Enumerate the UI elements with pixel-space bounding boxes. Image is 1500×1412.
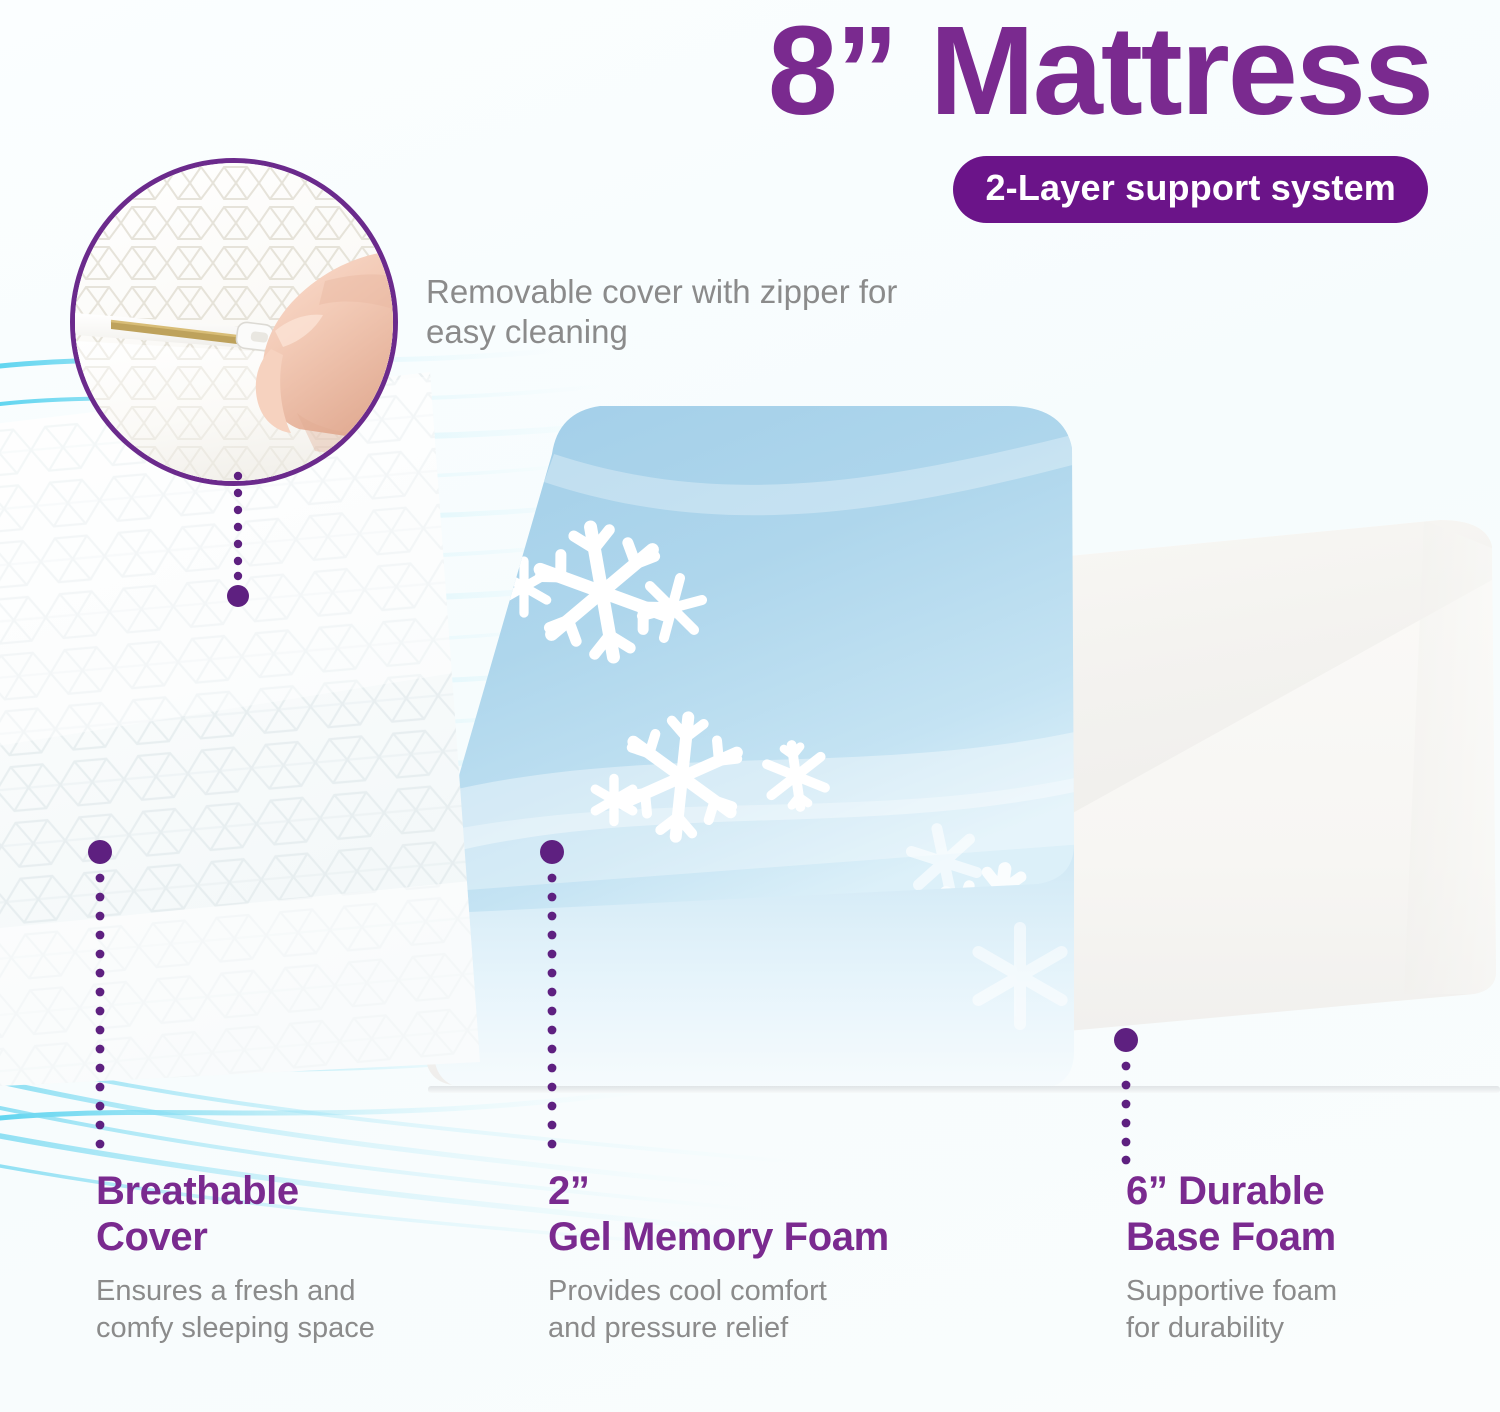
- feature-durable-base-foam: 6” Durable Base Foam Supportive foam for…: [1126, 1168, 1496, 1348]
- feature-title: Breathable Cover: [96, 1168, 496, 1261]
- page-title: 8” Mattress: [0, 4, 1432, 138]
- gel-memory-foam-layer: [424, 392, 1084, 1092]
- feature-description: Provides cool comfort and pressure relie…: [548, 1273, 1028, 1348]
- infographic-canvas: 8” Mattress 2-Layer support system Remov…: [0, 0, 1500, 1412]
- feature-description: Ensures a fresh and comfy sleeping space: [96, 1273, 496, 1348]
- zipper-photo-illustration: [75, 163, 393, 481]
- feature-breathable-cover: Breathable Cover Ensures a fresh and com…: [96, 1168, 496, 1348]
- support-system-badge: 2-Layer support system: [953, 156, 1428, 223]
- feature-title: 6” Durable Base Foam: [1126, 1168, 1496, 1261]
- feature-title: 2” Gel Memory Foam: [548, 1168, 1028, 1261]
- mattress-base-shadow: [428, 1086, 1500, 1093]
- feature-gel-memory-foam: 2” Gel Memory Foam Provides cool comfort…: [548, 1168, 1028, 1348]
- zipper-detail-inset: [70, 158, 398, 486]
- callout-zipper-text: Removable cover with zipper for easy cle…: [426, 272, 946, 353]
- feature-description: Supportive foam for durability: [1126, 1273, 1496, 1348]
